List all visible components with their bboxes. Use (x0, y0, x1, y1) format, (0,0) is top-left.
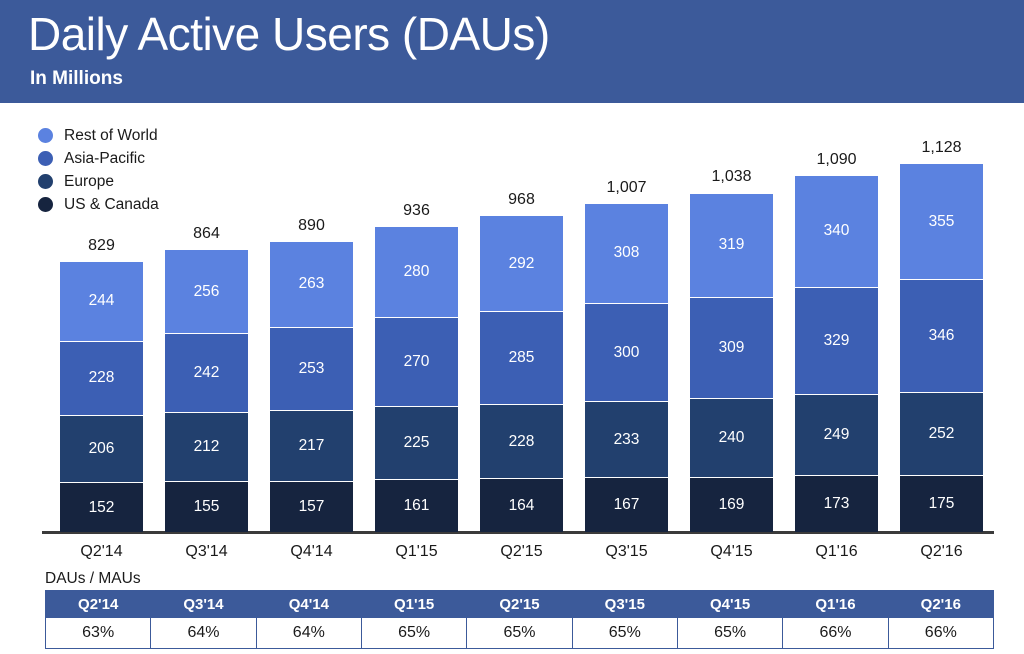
table-cell-ratio: 66% (888, 618, 993, 649)
bar-column[interactable]: 292285228164 (480, 215, 563, 532)
bar-segment[interactable]: 309 (690, 297, 773, 398)
bar-segment[interactable]: 300 (585, 303, 668, 401)
bar-segment-label: 157 (299, 498, 325, 516)
bar-segment-label: 242 (194, 364, 220, 382)
bar-segment-label: 253 (299, 360, 325, 378)
bar-segment-label: 161 (404, 497, 430, 515)
x-axis-label: Q3'14 (165, 543, 248, 561)
bar-segment-label: 167 (614, 496, 640, 514)
table-cell-ratio: 65% (677, 618, 782, 649)
bar-segment[interactable]: 346 (900, 279, 983, 392)
bar-column[interactable]: 308300233167 (585, 203, 668, 532)
bar-segment-label: 175 (929, 495, 955, 513)
bar-total-label: 829 (60, 237, 143, 255)
bar-segment[interactable]: 169 (690, 477, 773, 532)
bar-segment-label: 309 (719, 339, 745, 357)
table-column-header: Q2'16 (888, 591, 993, 618)
table-cell-ratio: 65% (361, 618, 466, 649)
bar-segment-label: 263 (299, 275, 325, 293)
bar-segment-label: 340 (824, 222, 850, 240)
table-column-header: Q2'15 (467, 591, 572, 618)
bar-segment[interactable]: 308 (585, 203, 668, 304)
bar-total-label: 890 (270, 217, 353, 235)
bar-total-label: 968 (480, 191, 563, 209)
table-cell-ratio: 63% (46, 618, 151, 649)
bar-segment-label: 355 (929, 213, 955, 231)
x-axis-label: Q4'14 (270, 543, 353, 561)
x-axis-label: Q1'15 (375, 543, 458, 561)
table-cell-ratio: 66% (783, 618, 888, 649)
bar-segment-label: 244 (89, 292, 115, 310)
bar-segment[interactable]: 152 (60, 482, 143, 532)
bar-segment-label: 152 (89, 499, 115, 517)
bar-segment[interactable]: 319 (690, 193, 773, 297)
bar-segment[interactable]: 217 (270, 410, 353, 481)
bar-segment-label: 225 (404, 434, 430, 452)
bar-column[interactable]: 244228206152 (60, 261, 143, 532)
bar-segment-label: 169 (719, 496, 745, 514)
bar-segment[interactable]: 263 (270, 241, 353, 327)
bar-segment-label: 300 (614, 344, 640, 362)
bar-segment-label: 292 (509, 255, 535, 273)
bar-segment[interactable]: 175 (900, 475, 983, 532)
stacked-bar-chart: 829244228206152Q2'14864256242212155Q3'14… (0, 0, 1024, 540)
bar-segment-label: 228 (509, 433, 535, 451)
bar-segment-label: 280 (404, 263, 430, 281)
bar-column[interactable]: 340329249173 (795, 175, 878, 532)
table-column-header: Q4'15 (677, 591, 782, 618)
table-column-header: Q1'16 (783, 591, 888, 618)
bar-segment[interactable]: 167 (585, 477, 668, 532)
x-axis-label: Q2'14 (60, 543, 143, 561)
bar-segment[interactable]: 164 (480, 478, 563, 532)
bar-total-label: 1,007 (585, 179, 668, 197)
bar-segment[interactable]: 228 (60, 341, 143, 416)
bar-segment[interactable]: 280 (375, 226, 458, 318)
bar-segment-label: 240 (719, 429, 745, 447)
bar-total-label: 1,090 (795, 151, 878, 169)
table-column-header: Q3'14 (151, 591, 256, 618)
table-cell-ratio: 65% (467, 618, 572, 649)
bar-segment[interactable]: 240 (690, 398, 773, 477)
bar-segment-label: 217 (299, 437, 325, 455)
x-axis-label: Q4'15 (690, 543, 773, 561)
bar-segment[interactable]: 292 (480, 215, 563, 310)
bar-segment-label: 228 (89, 369, 115, 387)
bar-segment[interactable]: 157 (270, 481, 353, 532)
table-cell-ratio: 64% (256, 618, 361, 649)
table-column-header: Q2'14 (46, 591, 151, 618)
table-column-header: Q3'15 (572, 591, 677, 618)
bar-segment-label: 256 (194, 283, 220, 301)
bar-segment-label: 252 (929, 425, 955, 443)
bar-segment[interactable]: 212 (165, 412, 248, 481)
bar-segment-label: 233 (614, 431, 640, 449)
bar-column[interactable]: 319309240169 (690, 192, 773, 532)
bar-total-label: 1,038 (690, 168, 773, 186)
bar-segment[interactable]: 228 (480, 404, 563, 479)
bar-segment-label: 346 (929, 327, 955, 345)
table-column-header: Q1'15 (361, 591, 466, 618)
x-axis-label: Q2'16 (900, 543, 983, 561)
daus-maus-table: Q2'14Q3'14Q4'14Q1'15Q2'15Q3'15Q4'15Q1'16… (45, 590, 994, 649)
bar-segment[interactable]: 206 (60, 415, 143, 482)
bar-segment[interactable]: 340 (795, 175, 878, 286)
bar-column[interactable]: 256242212155 (165, 249, 248, 532)
bar-segment-label: 206 (89, 440, 115, 458)
bar-segment[interactable]: 253 (270, 327, 353, 410)
bar-segment[interactable]: 285 (480, 311, 563, 404)
bar-segment[interactable]: 256 (165, 249, 248, 333)
bar-segment[interactable]: 155 (165, 481, 248, 532)
bar-column[interactable]: 280270225161 (375, 226, 458, 532)
bar-segment-label: 270 (404, 353, 430, 371)
bar-segment[interactable]: 249 (795, 394, 878, 475)
bar-segment[interactable]: 270 (375, 317, 458, 405)
bar-segment-label: 249 (824, 426, 850, 444)
bar-total-label: 864 (165, 225, 248, 243)
table-data-row: 63%64%64%65%65%65%65%66%66% (46, 618, 994, 649)
x-axis-label: Q3'15 (585, 543, 668, 561)
bar-segment-label: 212 (194, 438, 220, 456)
bar-segment-label: 285 (509, 349, 535, 367)
bar-total-label: 1,128 (900, 139, 983, 157)
ratio-table-caption: DAUs / MAUs (45, 570, 141, 588)
bar-segment-label: 308 (614, 244, 640, 262)
bar-segment-label: 155 (194, 498, 220, 516)
bar-segment[interactable]: 225 (375, 406, 458, 480)
table-cell-ratio: 65% (572, 618, 677, 649)
bar-segment-label: 173 (824, 495, 850, 513)
table-column-header: Q4'14 (256, 591, 361, 618)
bar-segment-label: 329 (824, 332, 850, 350)
table-header-row: Q2'14Q3'14Q4'14Q1'15Q2'15Q3'15Q4'15Q1'16… (46, 591, 994, 618)
bar-segment-label: 319 (719, 236, 745, 254)
bar-segment[interactable]: 252 (900, 392, 983, 474)
bar-segment[interactable]: 233 (585, 401, 668, 477)
bar-segment[interactable]: 161 (375, 479, 458, 532)
x-axis-label: Q2'15 (480, 543, 563, 561)
bar-total-label: 936 (375, 202, 458, 220)
x-axis-label: Q1'16 (795, 543, 878, 561)
bar-segment[interactable]: 242 (165, 333, 248, 412)
bar-column[interactable]: 355346252175 (900, 163, 983, 532)
table-cell-ratio: 64% (151, 618, 256, 649)
bar-segment[interactable]: 244 (60, 261, 143, 341)
bar-segment[interactable]: 355 (900, 163, 983, 279)
bar-column[interactable]: 263253217157 (270, 241, 353, 532)
bar-segment[interactable]: 329 (795, 287, 878, 395)
bar-segment-label: 164 (509, 497, 535, 515)
bar-segment[interactable]: 173 (795, 475, 878, 532)
